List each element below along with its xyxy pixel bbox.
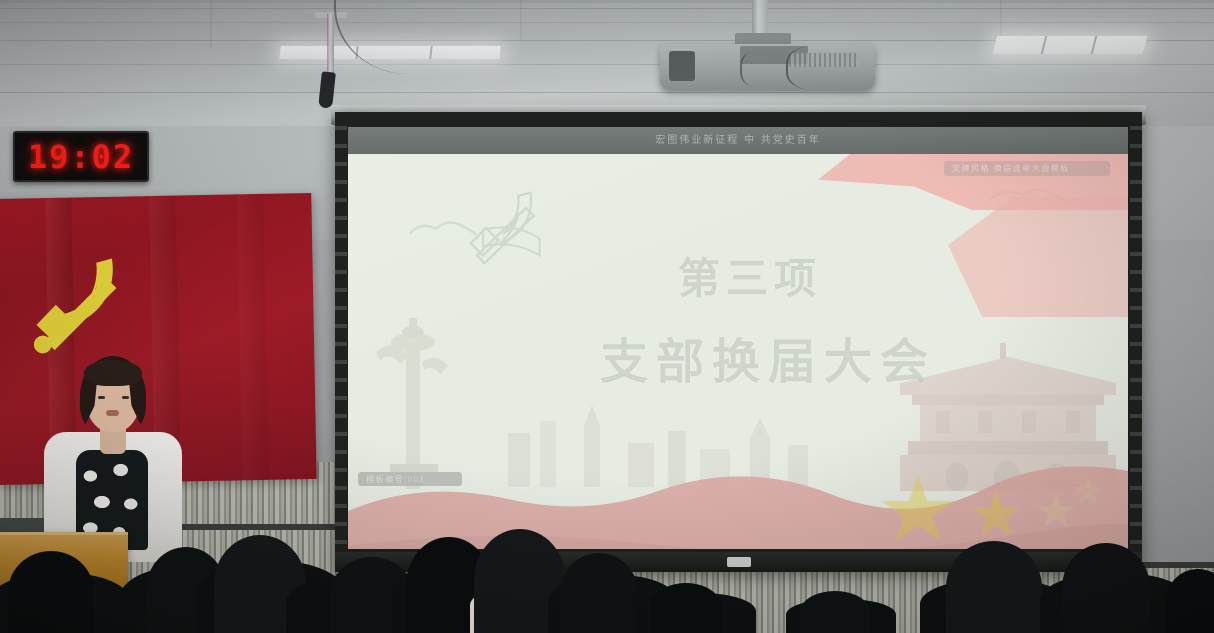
wall-led-clock: 19:02 — [13, 131, 149, 182]
hammer-and-sickle-icon — [18, 244, 144, 364]
presenter-eye-right — [122, 396, 129, 399]
projector-cable — [786, 46, 848, 90]
projector-lens-icon — [669, 51, 695, 81]
recessed-fluorescent-panel-icon — [993, 36, 1147, 54]
presenter-mouth — [106, 410, 119, 416]
audience-head — [8, 551, 94, 633]
audience-head — [800, 591, 870, 633]
national-flag-stars-icon — [880, 471, 1100, 541]
screen-tension-clips-left — [335, 112, 347, 572]
projection-screen-surface: 宏图伟业新征程 中 共党史百年 党建风格 换届选举大会模板 模板编号 001 — [348, 127, 1128, 549]
projector-cable-2 — [740, 52, 772, 86]
microphone-pole — [327, 14, 334, 76]
audience-head — [560, 553, 638, 633]
slide-topbar-text: 宏图伟业新征程 中 共党史百年 — [655, 131, 821, 146]
slide-overlay-pill-top-right: 党建风格 换届选举大会模板 — [944, 161, 1110, 176]
conference-room-scene: 19:02 宏图伟业新征程 中 共党史百年 党建风格 换届选举大会模板 — [0, 0, 1214, 633]
slide-cloud-icon — [408, 215, 478, 239]
audience-head — [1062, 543, 1150, 633]
audience-head — [650, 583, 722, 633]
screen-tension-clips-right — [1130, 112, 1142, 572]
presenter-fringe — [84, 360, 142, 386]
presenter-eye-left — [98, 396, 105, 399]
audience-head — [946, 541, 1042, 633]
slide-title-line-2: 支部换届大会 — [600, 322, 936, 392]
screen-pull-handle[interactable] — [727, 557, 751, 567]
slide-accent-shape-right — [948, 197, 1128, 317]
slide-cloud-icon-2 — [988, 183, 1068, 205]
clock-time: 19:02 — [28, 138, 134, 176]
slide-title-line-1: 第三项 — [678, 245, 822, 306]
